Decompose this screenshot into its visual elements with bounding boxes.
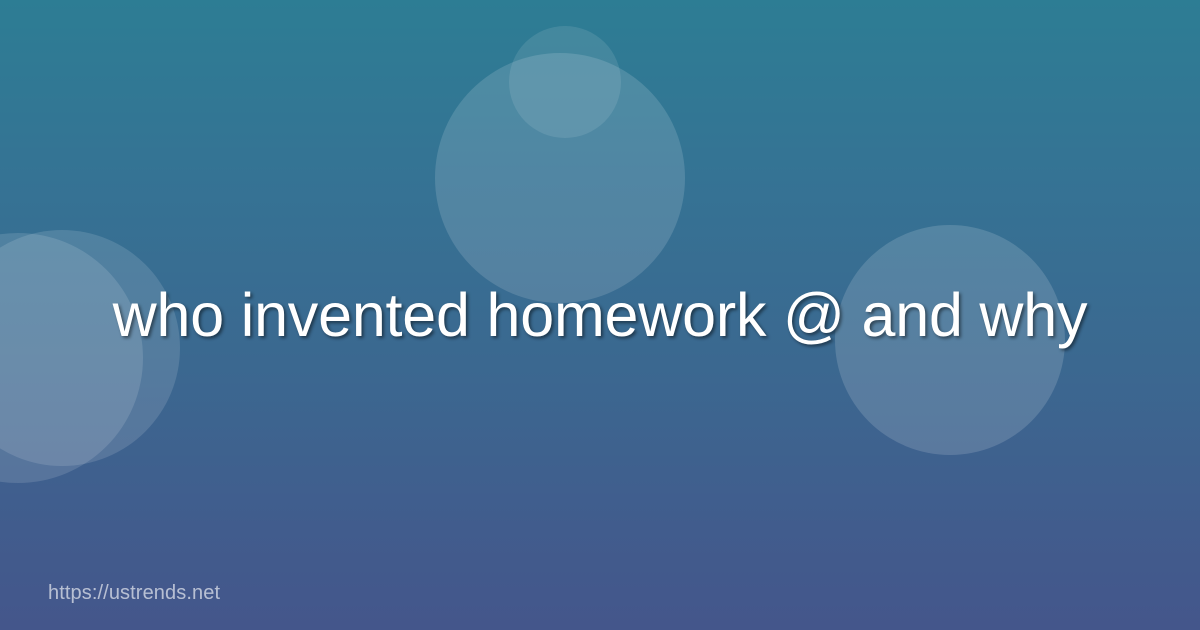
social-share-card: who invented homework @ and why https://… [0, 0, 1200, 630]
page-title: who invented homework @ and why [72, 281, 1128, 349]
site-url-label: https://ustrends.net [48, 583, 220, 603]
headline-container: who invented homework @ and why [0, 0, 1200, 630]
